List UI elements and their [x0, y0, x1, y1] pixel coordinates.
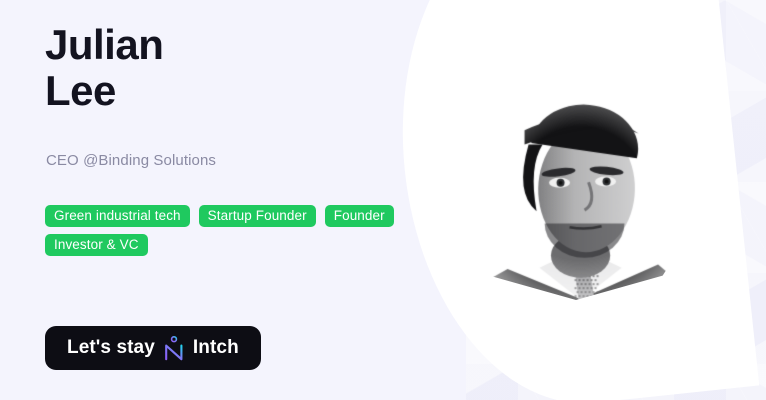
intch-n-logo-icon	[163, 336, 185, 362]
profile-content: Julian Lee CEO @Binding Solutions Green …	[45, 0, 465, 400]
first-name: Julian	[45, 22, 163, 68]
page-title: Julian Lee	[45, 22, 163, 114]
cta-label: Let's stay	[67, 337, 155, 359]
profile-card: Julian Lee CEO @Binding Solutions Green …	[0, 0, 766, 400]
cta-brand: Intch	[193, 337, 239, 359]
tag-list: Green industrial techStartup FounderFoun…	[45, 205, 445, 256]
profile-photo	[462, 78, 690, 300]
tag-chip[interactable]: Green industrial tech	[45, 205, 190, 227]
tag-chip[interactable]: Founder	[325, 205, 394, 227]
tag-chip[interactable]: Investor & VC	[45, 234, 148, 256]
headline: CEO @Binding Solutions	[46, 151, 216, 171]
last-name: Lee	[45, 68, 163, 114]
lets-stay-intch-button[interactable]: Let's stay Intch	[45, 326, 261, 370]
profile-photo-image	[462, 78, 690, 300]
tag-chip[interactable]: Startup Founder	[199, 205, 316, 227]
